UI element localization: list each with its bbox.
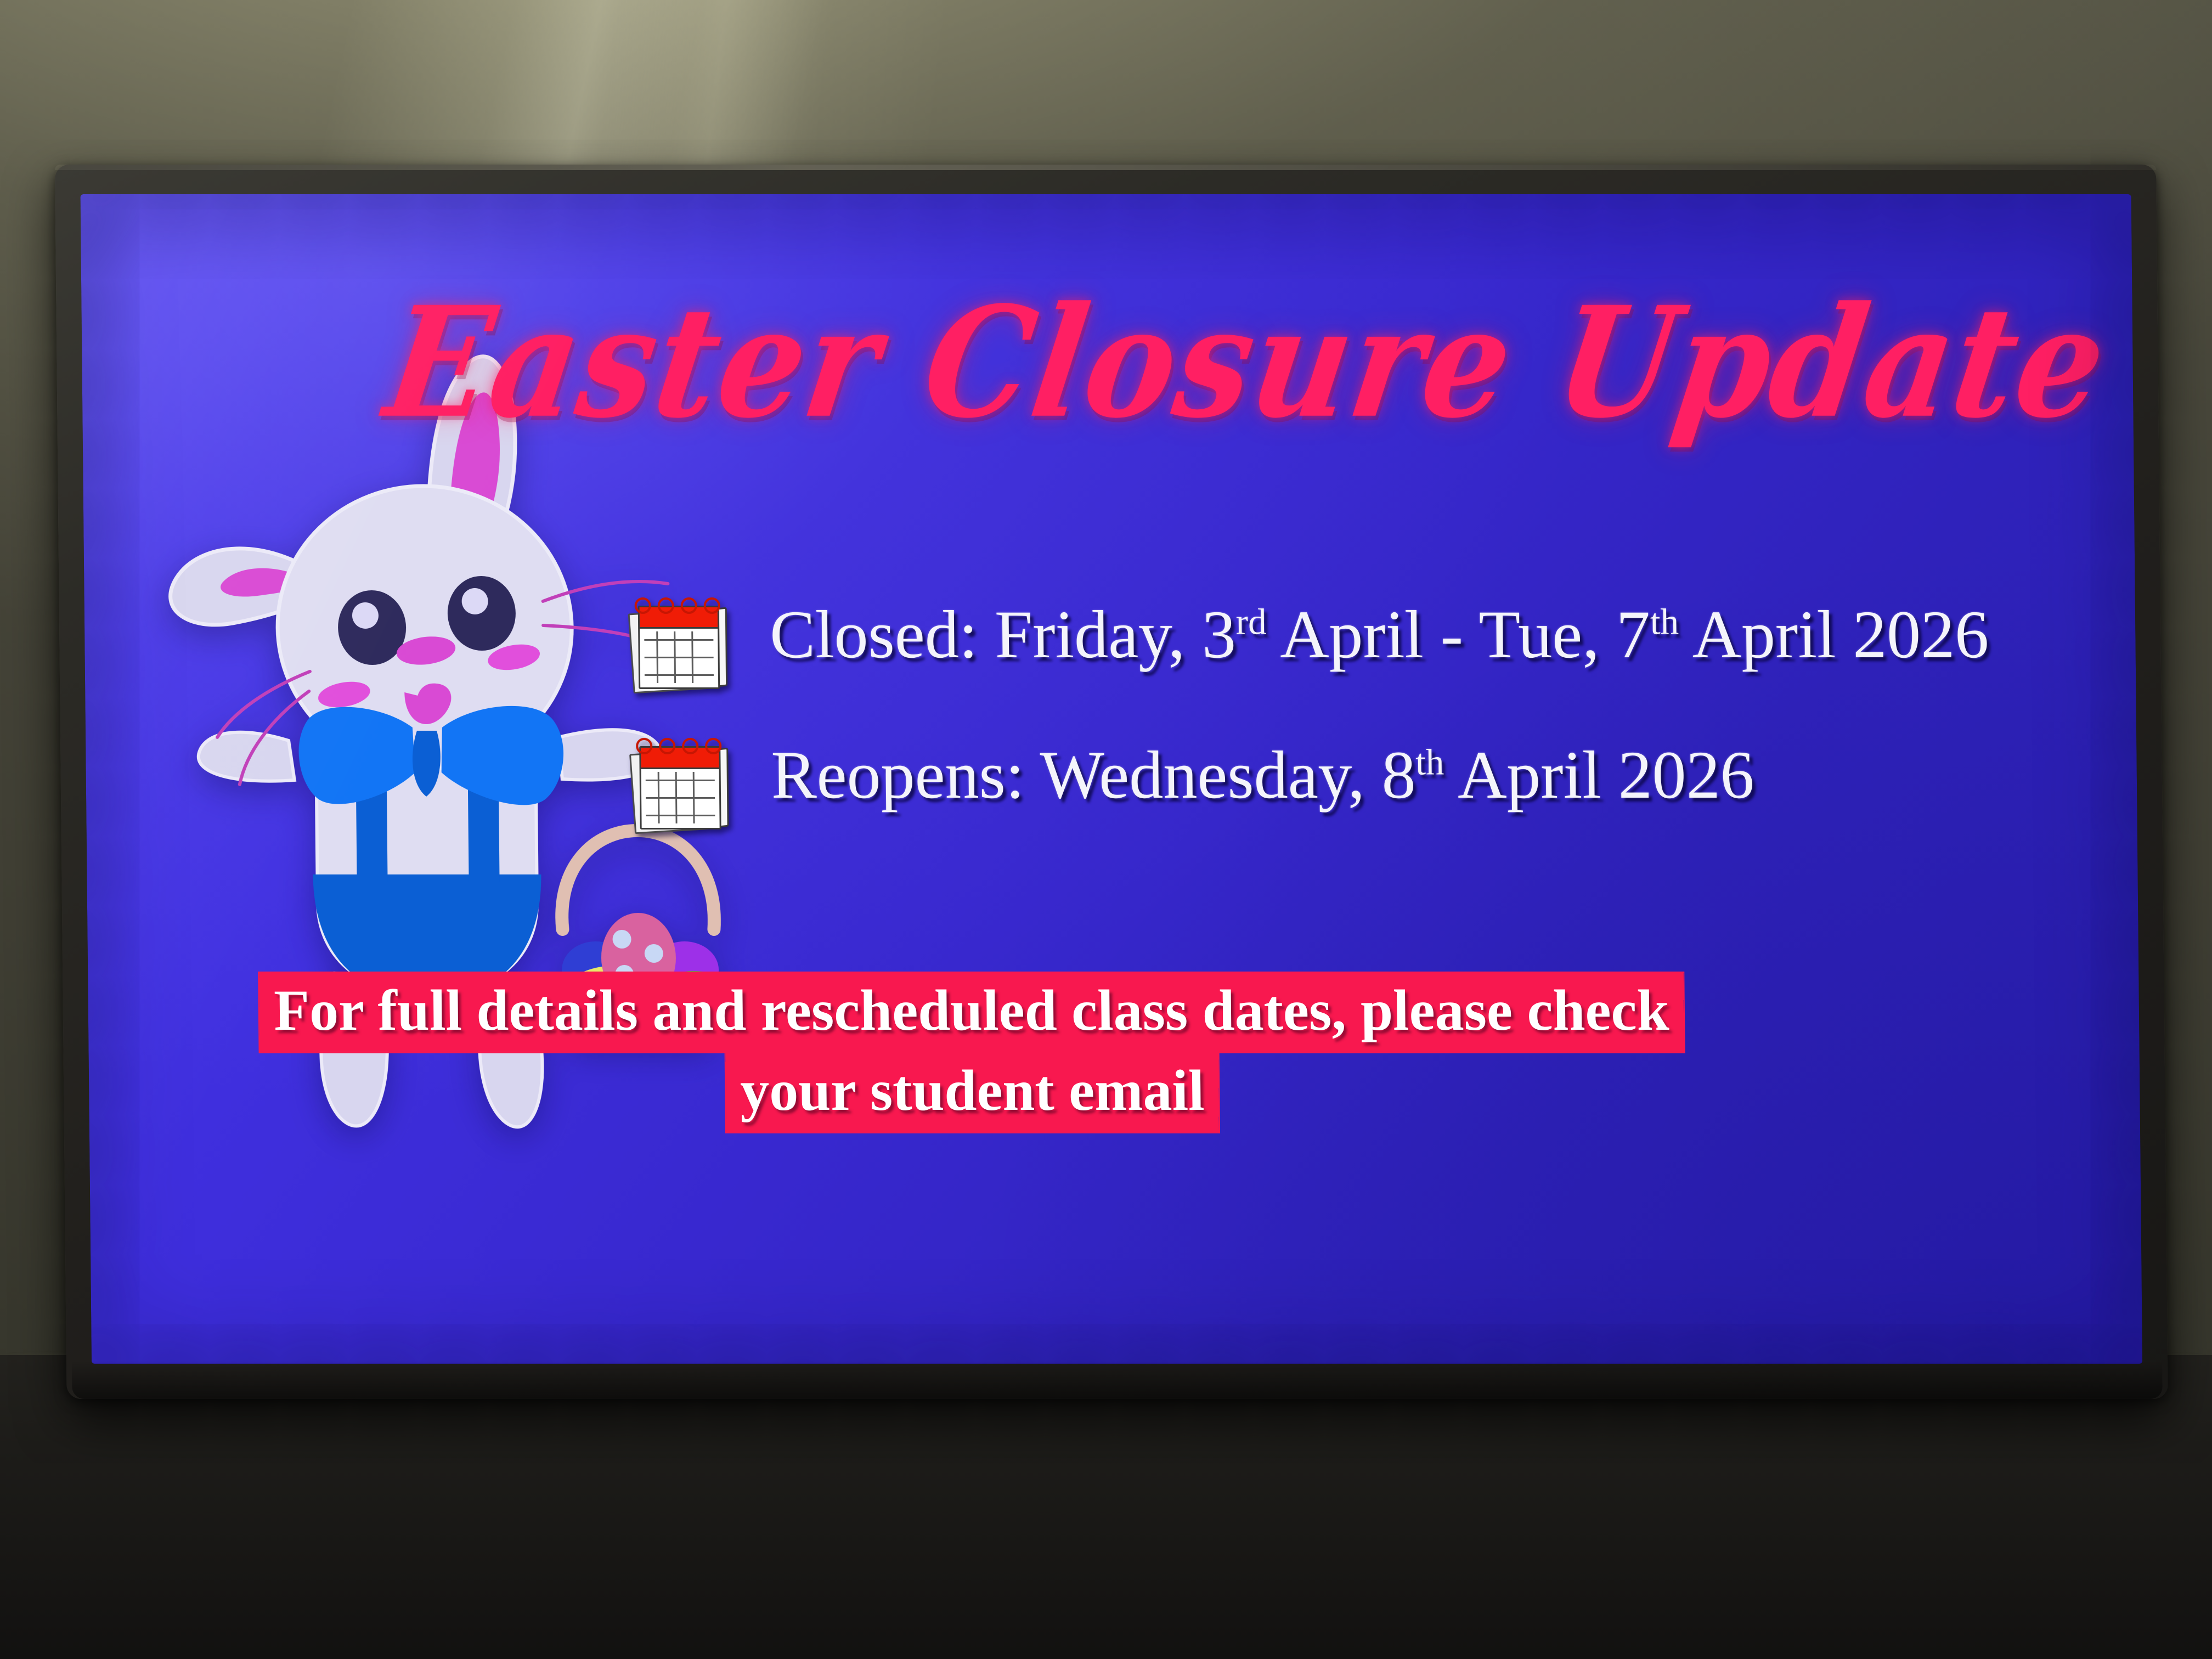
- tv-screen[interactable]: Easter Closure Update: [81, 194, 2143, 1364]
- slide-title: Easter Closure Update: [377, 284, 1992, 442]
- tv-bezel-highlight: [55, 165, 2156, 170]
- tv-bezel-shadow: [72, 1361, 2163, 1399]
- bullet-text-closed: Closed: Friday, 3rd April - Tue, 7th Apr…: [770, 595, 1989, 675]
- bullet-row-closed: Closed: Friday, 3rd April - Tue, 7th Apr…: [630, 595, 2102, 690]
- student-email-banner: For full details and rescheduled class d…: [176, 970, 1768, 1131]
- bullet-list: Closed: Friday, 3rd April - Tue, 7th Apr…: [630, 595, 2103, 876]
- banner-line-1: For full details and rescheduled class d…: [259, 973, 1684, 1052]
- television: Easter Closure Update: [55, 165, 2168, 1399]
- bullet-row-reopens: Reopens: Wednesday, 8th April 2026: [631, 735, 2103, 831]
- bullet-text-reopens: Reopens: Wednesday, 8th April 2026: [771, 735, 1754, 815]
- calendar-icon: [631, 743, 725, 831]
- banner-line-2: your student email: [726, 1053, 1220, 1132]
- presentation-slide: Easter Closure Update: [81, 194, 2143, 1364]
- photo-scene: Easter Closure Update: [0, 0, 2212, 1659]
- wall-lower: [0, 1355, 2212, 1659]
- calendar-icon: [630, 602, 724, 690]
